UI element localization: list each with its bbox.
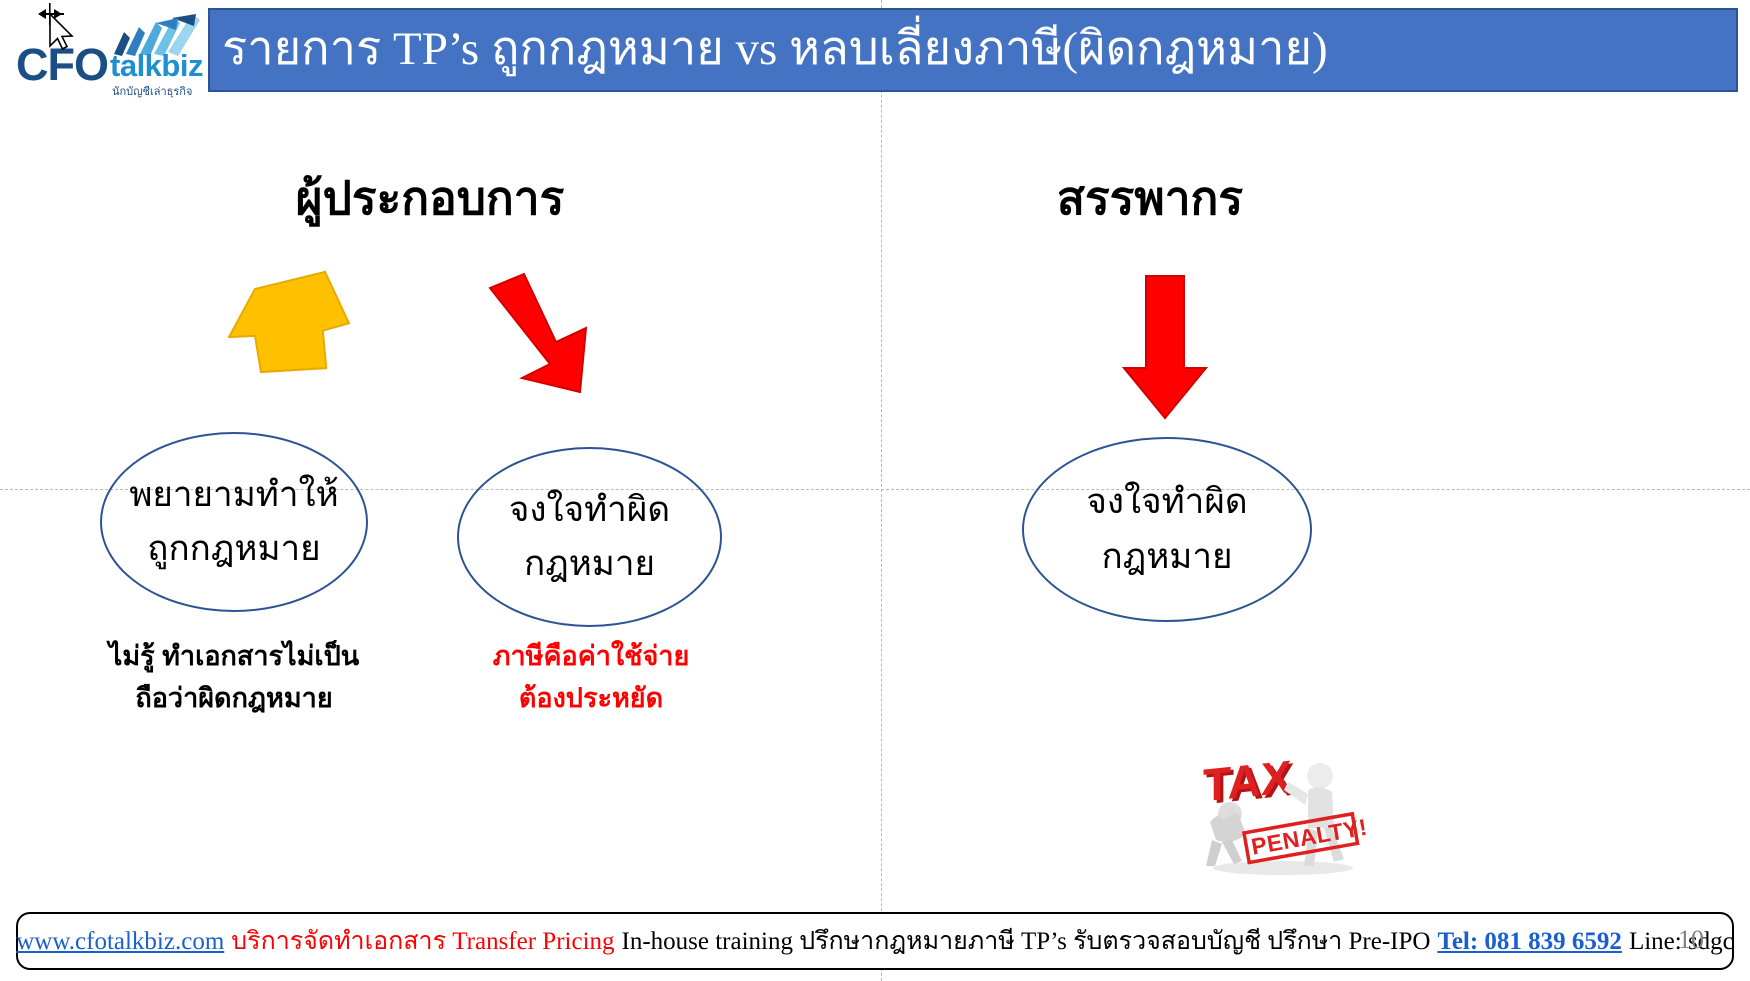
page-number: 10 [1678, 925, 1704, 955]
footer-telephone-link[interactable]: Tel: 081 839 6592 [1437, 928, 1622, 956]
mouse-cursor [26, 2, 82, 54]
yellow-down-arrow-icon [228, 262, 358, 402]
column-heading-entrepreneur: ผู้ประกอบการ [290, 162, 570, 235]
footer-service-red: บริการจัดทำเอกสาร Transfer Pricing [231, 921, 614, 961]
ellipse-revenue-line1: จงใจทำผิด [1086, 475, 1247, 529]
ellipse-revenue-line2: กฎหมาย [1102, 530, 1233, 584]
arrow-pointer-icon [50, 14, 72, 49]
ellipse-legal-line1: พยายามทำให้ [129, 468, 338, 522]
ellipse-revenue-dept-view: จงใจทำผิด กฎหมาย [1022, 437, 1312, 622]
footer-services-black: In-house training ปรึกษากฎหมายภาษี TP’s … [622, 921, 1431, 961]
logo-talkbiz-text: talkbiz [110, 50, 203, 81]
caption-tax-line2: ต้องประหยัด [460, 678, 722, 720]
caption-tax-is-expense: ภาษีคือค่าใช้จ่าย ต้องประหยัด [460, 636, 722, 720]
logo-tagline-text: นักบัญชีเล่าธุรกิจ [112, 82, 192, 100]
vertical-guide-line [881, 0, 882, 981]
column-heading-revenue-department: สรรพากร [1010, 162, 1290, 235]
tax-penalty-illustration: TAX TAX PENALTY! [1188, 748, 1378, 878]
footer-text-line: www.cfotalkbiz.com บริการจัดทำเอกสาร Tra… [16, 921, 1734, 961]
footer-website-link[interactable]: www.cfotalkbiz.com [16, 928, 224, 956]
svg-text:TAX: TAX [1203, 750, 1292, 811]
ellipse-evade-line2: กฎหมาย [524, 537, 655, 591]
red-down-arrow-icon-right [1120, 272, 1210, 422]
caption-unaware-line2: ถือว่าผิดกฎหมาย [84, 678, 384, 720]
red-down-arrow-icon-middle [482, 272, 607, 407]
ellipse-intentional-evasion: จงใจทำผิด กฎหมาย [457, 447, 722, 627]
ellipse-evade-line1: จงใจทำผิด [509, 483, 670, 537]
slide-canvas: CFO talkbiz นักบัญชีเล่าธุรกิจ รายการ TP… [0, 0, 1750, 981]
page-title: รายการ TP’s ถูกกฎหมาย vs หลบเลี่ยงภาษี(ผ… [222, 25, 1328, 74]
caption-unaware-line1: ไม่รู้ ทำเอกสารไม่เป็น [84, 636, 384, 678]
caption-tax-line1: ภาษีคือค่าใช้จ่าย [460, 636, 722, 678]
caption-unaware: ไม่รู้ ทำเอกสารไม่เป็น ถือว่าผิดกฎหมาย [84, 636, 384, 720]
ellipse-legal-line2: ถูกกฎหมาย [147, 522, 320, 576]
slide-title-bar: รายการ TP’s ถูกกฎหมาย vs หลบเลี่ยงภาษี(ผ… [208, 8, 1738, 92]
tax-word-icon: TAX TAX [1203, 750, 1295, 814]
ellipse-legal-compliance: พยายามทำให้ ถูกกฎหมาย [100, 432, 368, 612]
footer-contact-bar: www.cfotalkbiz.com บริการจัดทำเอกสาร Tra… [16, 912, 1734, 970]
